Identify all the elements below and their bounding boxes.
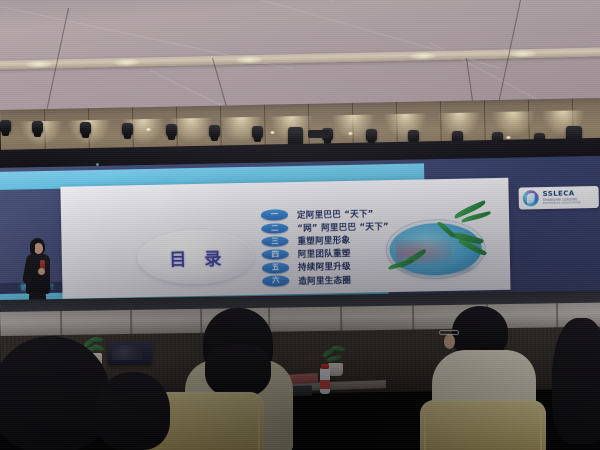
conference-photo-scene: 目 录 一 定阿里巴巴 “天下” 二 “网” 阿里巴巴 “天下” 三 重塑阿里形… bbox=[0, 0, 600, 450]
attendee-ear bbox=[444, 334, 455, 349]
agenda-item-label: 重塑阿里形象 bbox=[297, 234, 350, 247]
ceiling-downlight bbox=[348, 132, 353, 135]
logo-swirl-icon bbox=[523, 190, 539, 206]
agenda-item-label: 阿里团队重塑 bbox=[298, 247, 351, 260]
ceiling-downlight bbox=[270, 131, 275, 134]
logo-sub2-text: ENTERPRISE ASSOCIATION bbox=[543, 202, 581, 205]
ceiling-downlight bbox=[506, 136, 511, 139]
agenda-number-badge: 五 bbox=[262, 262, 289, 273]
presenter-face bbox=[34, 243, 43, 254]
agenda-number-badge: 一 bbox=[261, 209, 288, 220]
bottle-cap bbox=[321, 364, 329, 369]
agenda-item-label: 持续阿里升级 bbox=[298, 260, 351, 273]
attendee-hair bbox=[0, 336, 110, 450]
bottle-label bbox=[320, 380, 330, 389]
toc-title-text: 目 录 bbox=[164, 244, 227, 270]
agenda-item-label: 定阿里巴巴 “天下” bbox=[297, 207, 374, 221]
slide-content-card: 目 录 一 定阿里巴巴 “天下” 二 “网” 阿里巴巴 “天下” 三 重塑阿里形… bbox=[60, 178, 510, 299]
slide-decorative-illustration bbox=[379, 200, 509, 291]
stage-spotlight bbox=[252, 126, 263, 139]
agenda-number-badge: 四 bbox=[262, 249, 289, 260]
presenter-hand bbox=[38, 268, 45, 275]
stage-spotlight bbox=[209, 125, 220, 138]
stage-spotlight bbox=[366, 129, 377, 142]
presentation-slide: 目 录 一 定阿里巴巴 “天下” 二 “网” 阿里巴巴 “天下” 三 重塑阿里形… bbox=[0, 156, 600, 308]
stage-spotlight bbox=[32, 121, 43, 134]
agenda-item-label: “网” 阿里巴巴 “天下” bbox=[297, 220, 389, 234]
stage-spotlight bbox=[80, 122, 91, 135]
chair-rim bbox=[424, 404, 542, 450]
attendee-hair bbox=[552, 318, 600, 444]
ceiling-downlight bbox=[146, 128, 151, 131]
attendee-hair bbox=[96, 372, 170, 450]
attendee-hair-fall bbox=[205, 344, 271, 398]
stage-spotlight bbox=[122, 123, 133, 136]
agenda-number-badge: 二 bbox=[261, 223, 288, 234]
association-logo: SSLECA SHANGHAI LEASING ENTERPRISE ASSOC… bbox=[518, 186, 598, 210]
attendee-left-mid bbox=[96, 372, 172, 450]
eyeglasses-icon bbox=[439, 330, 459, 335]
toc-title-badge: 目 录 bbox=[137, 229, 254, 285]
agenda-number-badge: 六 bbox=[262, 275, 289, 286]
agenda-item-label: 造阿里生态圈 bbox=[298, 273, 351, 286]
presenter-hair-strand bbox=[30, 241, 35, 255]
led-screen: 目 录 一 定阿里巴巴 “天下” 二 “网” 阿里巴巴 “天下” 三 重塑阿里形… bbox=[0, 156, 600, 308]
stage-spotlight bbox=[0, 120, 11, 133]
stage-light-housing bbox=[308, 130, 330, 138]
stage-spotlight bbox=[166, 124, 177, 137]
agenda-number-badge: 三 bbox=[261, 236, 288, 247]
attendee-far-right bbox=[552, 318, 600, 450]
